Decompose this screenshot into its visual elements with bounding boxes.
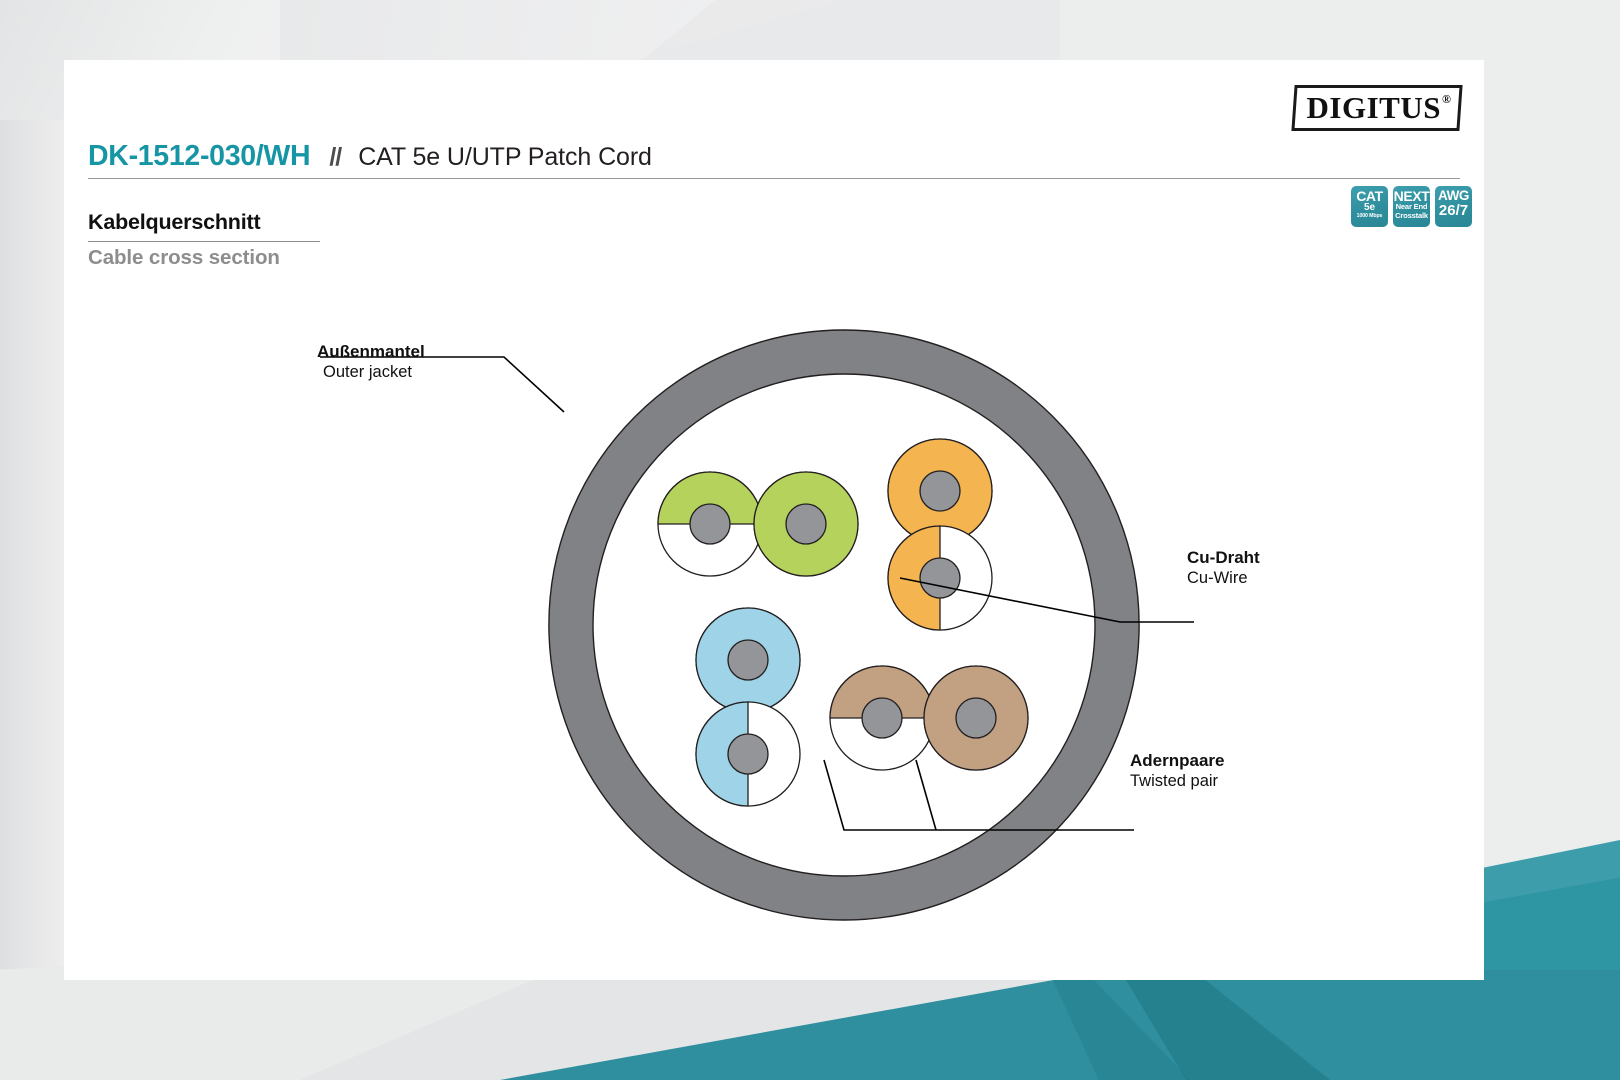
leader-twisted-pair-1 — [824, 760, 1134, 830]
product-title-row: DK-1512-030/WH // CAT 5e U/UTP Patch Cor… — [88, 140, 1460, 173]
wire-stripe-half — [696, 702, 748, 806]
next-badge-line1: NEXT — [1394, 189, 1430, 203]
leader-twisted-pair-2 — [916, 760, 936, 830]
wire-stripe-half — [830, 666, 934, 718]
title-divider — [88, 178, 1460, 179]
wire-colour-fill — [924, 666, 1028, 770]
callout-cu-wire-en: Cu-Wire — [1187, 568, 1260, 589]
wire-insulation — [888, 526, 992, 630]
section-divider — [88, 241, 320, 242]
brown-pair-wire-2 — [924, 666, 1028, 770]
awg-badge-line2: 26/7 — [1439, 203, 1468, 219]
spec-badge-group: CAT 5e 1000 Mbps NEXT Near End Crosstalk… — [1351, 186, 1472, 227]
cat-badge: CAT 5e 1000 Mbps — [1351, 186, 1388, 227]
copper-core — [920, 471, 960, 511]
wire-insulation — [754, 472, 858, 576]
blue-pair-wire-1 — [696, 608, 800, 712]
digitus-logo: DIGITUS® — [1293, 85, 1461, 131]
cable-cross-section-diagram — [64, 60, 1484, 980]
callout-outer-jacket-en: Outer jacket — [317, 362, 425, 383]
orange-pair-wire-2 — [888, 526, 992, 630]
callout-cu-wire-de: Cu-Draht — [1187, 547, 1260, 568]
green-pair-wire-1 — [658, 472, 762, 576]
title-separator: // — [329, 143, 341, 172]
callout-outer-jacket: Außenmantel Outer jacket — [317, 341, 425, 384]
copper-core — [728, 734, 768, 774]
next-badge: NEXT Near End Crosstalk — [1393, 186, 1430, 227]
next-badge-line3: Crosstalk — [1395, 212, 1428, 221]
wire-insulation — [888, 439, 992, 543]
section-title-de: Kabelquerschnitt — [88, 210, 320, 235]
wire-colour-fill — [696, 608, 800, 712]
wire-insulation — [924, 666, 1028, 770]
copper-core — [728, 640, 768, 680]
leader-cu-wire — [900, 578, 1194, 622]
callout-twisted-pair-en: Twisted pair — [1130, 771, 1224, 792]
callout-twisted-pair: Adernpaare Twisted pair — [1130, 750, 1224, 793]
awg-badge: AWG 26/7 — [1435, 186, 1472, 227]
copper-core — [786, 504, 826, 544]
cable-outer-jacket — [549, 330, 1139, 920]
orange-pair — [888, 439, 992, 630]
wire-insulation — [658, 472, 762, 576]
wire-insulation — [696, 702, 800, 806]
copper-core — [920, 558, 960, 598]
copper-core — [690, 504, 730, 544]
callout-outer-jacket-de: Außenmantel — [317, 341, 425, 362]
product-sku: DK-1512-030/WH — [88, 140, 310, 173]
cat-badge-line1: CAT — [1356, 189, 1383, 203]
wire-colour-fill — [888, 439, 992, 543]
callout-twisted-pair-de: Adernpaare — [1130, 750, 1224, 771]
logo-wordmark: DIGITUS® — [1293, 85, 1461, 131]
section-heading: Kabelquerschnitt Cable cross section — [88, 210, 320, 270]
green-pair-wire-2 — [754, 472, 858, 576]
decor-left-strip — [0, 0, 64, 1080]
blue-pair — [696, 608, 800, 806]
product-name: CAT 5e U/UTP Patch Cord — [358, 143, 652, 172]
callout-cu-wire: Cu-Draht Cu-Wire — [1187, 547, 1260, 590]
copper-core — [956, 698, 996, 738]
awg-badge-line1: AWG — [1438, 189, 1469, 203]
registered-trademark-icon: ® — [1442, 93, 1451, 105]
wire-stripe-half — [658, 472, 762, 524]
wire-stripe-half — [888, 526, 940, 630]
cat-badge-line3: 1000 Mbps — [1357, 214, 1383, 220]
green-pair — [658, 472, 858, 576]
brown-pair — [830, 666, 1028, 770]
wire-insulation — [696, 608, 800, 712]
wire-insulation — [830, 666, 934, 770]
section-title-en: Cable cross section — [88, 246, 320, 270]
orange-pair-wire-1 — [888, 439, 992, 543]
wire-colour-fill — [754, 472, 858, 576]
copper-core — [862, 698, 902, 738]
logo-wordmark-text: DIGITUS — [1307, 90, 1441, 126]
document-sheet: DIGITUS® DK-1512-030/WH // CAT 5e U/UTP … — [64, 60, 1484, 980]
blue-pair-wire-2 — [696, 702, 800, 806]
page-canvas: DIGITUS® DK-1512-030/WH // CAT 5e U/UTP … — [0, 0, 1620, 1080]
brown-pair-wire-1 — [830, 666, 934, 770]
